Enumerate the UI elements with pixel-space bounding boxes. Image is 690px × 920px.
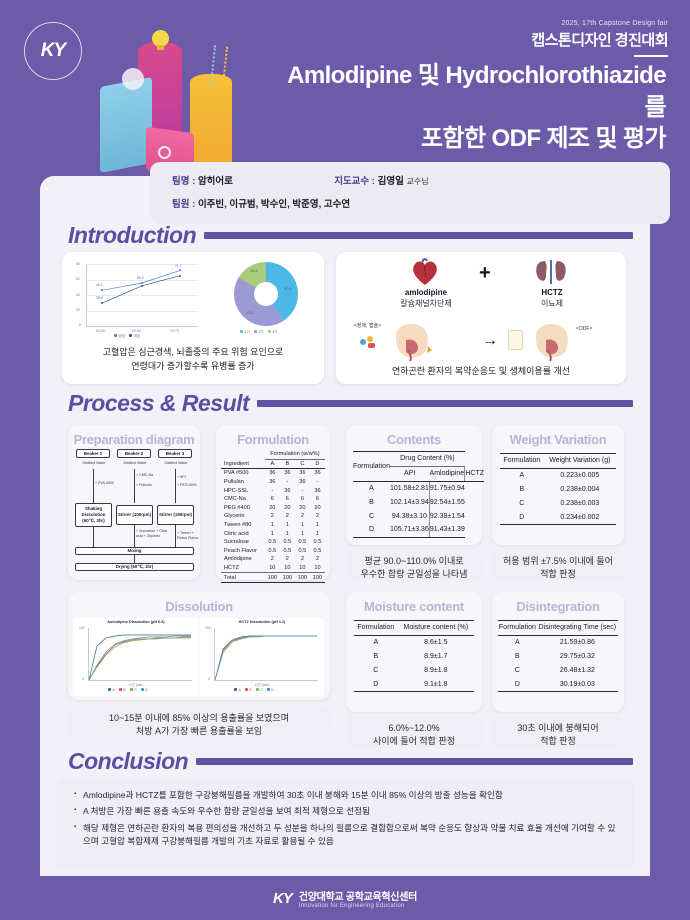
members-label: 팀원 : [172, 199, 195, 210]
advisor-suffix: 교수님 [406, 177, 428, 186]
moisture-formulation: C [354, 663, 398, 677]
poster-footer: KY 건양대학교 공학교육혁신센터 Innovation for Enginee… [0, 876, 690, 920]
weight-value: 0.223±0.005 [544, 468, 616, 482]
table-row: Citric acid1111 [221, 529, 325, 538]
formulation-value-A: 2 [265, 512, 280, 521]
amlo-legend: A B C D [108, 688, 148, 692]
table-row: Glycerin2222 [221, 512, 325, 521]
table-row: HCTZ10101010 [221, 564, 325, 573]
poster-header: KY 2025, 17th Capstone Design fair 캡스톤디자… [0, 0, 690, 160]
amlo-y-min: 0 [82, 677, 84, 681]
disintegration-value: 30.19±0.03 [537, 677, 618, 691]
formulation-ingredient: Pullulan [221, 478, 265, 487]
contents-head-api: API [390, 466, 429, 481]
contents-card: Contents Formulation Drug Content (%) AP… [346, 425, 482, 545]
donut-label-2: 43.1 [246, 310, 254, 315]
team-name-label: 팀명 : [172, 176, 195, 187]
formulation-value-D: 2 [310, 512, 325, 521]
art-magnifier-icon [158, 146, 171, 159]
table-row: PVA #50036363636 [221, 469, 325, 478]
preparation-diagram-title: Preparation diagram [68, 425, 200, 447]
table-row: B29.75±0.32 [498, 650, 618, 664]
moisture-head-formulation: Formulation [354, 621, 398, 636]
table-row: Pullulan36-36- [221, 478, 325, 487]
formulation-value-A: 0.5 [265, 547, 280, 556]
intro-left-caption-line-1: 고혈압은 심근경색, 뇌졸중의 주요 위험 요인으로 [62, 346, 324, 360]
disintegration-value: 29.75±0.32 [537, 650, 618, 664]
heart-icon [410, 258, 440, 286]
prep-step-2: Stirrer (100rpm) [116, 505, 153, 525]
introduction-title: Introduction [68, 222, 196, 249]
formulation-value-D: 36 [310, 469, 325, 478]
formulation-value-D: 20 [310, 504, 325, 513]
contents-amlodipine: 101.58±2.81 [390, 481, 429, 495]
formulation-ingredient: Amlodipine [221, 555, 265, 564]
prep-mixing: Mixing [75, 547, 194, 555]
disintegration-formulation: D [498, 677, 537, 691]
footer-korean: 건양대학교 공학교육혁신센터 [299, 888, 417, 903]
formulation-value-A: 36 [265, 469, 280, 478]
contents-formulation: A [353, 481, 390, 495]
contents-head-c1: Amlodipine [429, 466, 464, 481]
fair-title: 캡스톤디자인 경진대회 [531, 29, 668, 50]
weight-variation-table: Formulation Weight Variation (g) A0.223±… [500, 453, 616, 525]
disintegration-value: 21.59±0.86 [537, 635, 618, 649]
formulation-col-a: A [265, 459, 280, 469]
team-name-value: 암히어로 [198, 176, 233, 187]
table-row: CMC-Na6666 [221, 495, 325, 504]
formulation-ingredient: HCTZ [221, 564, 265, 573]
amlo-y-max: 120 [79, 626, 85, 630]
contents-head-group: Drug Content (%) [390, 452, 465, 467]
prep-add-3a: + API [177, 475, 186, 480]
amlo-legend-d: D [141, 688, 148, 692]
formulation-value-A: 0.5 [265, 538, 280, 547]
contents-caption-line-2: 우수한 함량 균일성을 나타냄 [350, 568, 478, 581]
formulation-head-group: Formulation (w/w%) [265, 450, 325, 459]
formulation-value-D: 100 [310, 573, 325, 583]
seal-text: KY [41, 40, 65, 62]
prep-add-2b: + Pullulan [136, 483, 152, 488]
formulation-col-b: B [280, 459, 295, 469]
formulation-ingredient: Citric acid [221, 529, 265, 538]
disintegration-value: 26.48±1.32 [537, 663, 618, 677]
contents-table: Formulation Drug Content (%) API Amlodip… [353, 451, 484, 538]
footer-logo: KY [273, 890, 292, 907]
moisture-table: Formulation Moisture content (%) A8.6±1.… [354, 620, 474, 692]
dissolution-card: Dissolution Amlodipine Dissolution (pH 6… [68, 592, 330, 700]
prep-side-mid: + Sucralose + Citric acid + Glycerin [136, 529, 170, 539]
table-row: A101.58±2.8191.75±0.94 [353, 481, 484, 495]
section-heading-introduction: Introduction [68, 222, 633, 249]
prep-water-2: Distilled Water [117, 461, 153, 466]
formulation-value-A: 36 [265, 478, 280, 487]
formulation-value-B: 0.5 [280, 538, 295, 547]
donut-label-3: 16.4 [250, 268, 258, 273]
conclusion-rule [196, 758, 633, 765]
formulation-value-D: 0.5 [310, 547, 325, 556]
contents-hctz: 91.75±0.94 [429, 481, 464, 495]
formulation-value-C: - [295, 486, 310, 495]
formulation-value-C: 36 [295, 469, 310, 478]
formulation-card: Formulation Ingredient Formulation (w/w%… [216, 425, 330, 580]
line-chart-legend: 남성 여성 [114, 334, 140, 339]
drug1-label: amlodipine 칼슘채널차단제 [380, 288, 472, 309]
formulation-value-A: 10 [265, 564, 280, 573]
odf-film-icon [508, 330, 523, 350]
donut-legend-3: 3기 [268, 330, 278, 335]
drug2-name-kr: 이뇨제 [506, 298, 598, 309]
weight-formulation: B [500, 483, 544, 497]
kidney-icon [532, 258, 570, 286]
contents-formulation: D [353, 523, 390, 537]
arrow-icon: → [482, 332, 498, 350]
prep-drying: Drying (60℃, 1hr) [75, 563, 194, 571]
conclusion-title: Conclusion [68, 748, 188, 775]
contents-formulation: B [353, 495, 390, 509]
hctz-dissolution-chart: HCTZ Dissolution (pH 1.2) 100 0 시간 (min)… [200, 618, 324, 696]
contents-hctz: 91.43±1.39 [429, 523, 464, 537]
prep-beaker-3: Beaker 3 [158, 449, 192, 458]
formulation-value-C: 36 [295, 478, 310, 487]
moisture-formulation: A [354, 635, 398, 649]
section-heading-process-result: Process & Result [68, 390, 633, 417]
moisture-value: 8.6±1.5 [398, 635, 474, 649]
team-row-names: 팀명 : 암히어로 지도교수 : 김영일 교수님 [172, 173, 670, 187]
fair-subtitle: 2025, 17th Capstone Design fair [531, 20, 668, 27]
table-row: HPC-SSL-36-36 [221, 486, 325, 495]
formulation-value-D: 10 [310, 564, 325, 573]
weight-head-value: Weight Variation (g) [544, 454, 616, 469]
weight-head-formulation: Formulation [500, 454, 544, 469]
donut-hole [254, 282, 278, 306]
amlo-legend-b: B [119, 688, 126, 692]
donut-legend: 1기 2기 3기 [240, 330, 277, 335]
moisture-head-value: Moisture content (%) [398, 621, 474, 636]
moisture-value: 9.1±1.8 [398, 677, 474, 691]
hctz-y-min: 0 [208, 677, 210, 681]
weight-formulation: A [500, 468, 544, 482]
formulation-value-C: 2 [295, 555, 310, 564]
fair-branding: 2025, 17th Capstone Design fair 캡스톤디자인 경… [531, 20, 668, 57]
process-result-title: Process & Result [68, 390, 249, 417]
legend-male: 남성 [114, 334, 125, 339]
formulation-value-A: 1 [265, 529, 280, 538]
poster-root: KY 2025, 17th Capstone Design fair 캡스톤디자… [0, 0, 690, 920]
table-row: Tween #801111 [221, 521, 325, 530]
formulation-value-B: 6 [280, 495, 295, 504]
prep-water-1: Distilled Water [76, 461, 112, 466]
formulation-value-D: - [310, 478, 325, 487]
drug2-label: HCTZ 이뇨제 [506, 288, 598, 309]
art-molecule-icon [122, 68, 144, 90]
conclusion-item: A 처방은 가장 빠른 용출 속도와 우수한 함량 균일성을 보여 최적 제형으… [74, 805, 616, 818]
table-row: Amlodipine2222 [221, 555, 325, 564]
weight-table-body: A0.223±0.005B0.238±0.004C0.238±0.003D0.2… [500, 468, 616, 524]
severity-donut-chart: 40.5 43.1 16.4 1기 2기 3기 [214, 258, 318, 342]
formulation-value-B: 1 [280, 529, 295, 538]
dosage-form-tag-right: <ODF> [576, 326, 592, 332]
contents-head-c2: HCTZ [465, 466, 484, 481]
formulation-value-B: 20 [280, 504, 295, 513]
team-info-bar: 팀명 : 암히어로 지도교수 : 김영일 교수님 팀원 : 이주빈, 이규범, … [150, 162, 670, 224]
contents-caption: 평균 90.0~110.0% 이내로 우수한 함량 균일성을 나타냄 [346, 549, 482, 581]
prep-add-2a: + CMC-Na [136, 473, 153, 478]
formulation-value-A: 1 [265, 521, 280, 530]
disintegration-formulation: C [498, 663, 537, 677]
contents-head-formulation: Formulation [353, 452, 390, 482]
hypertension-prevalence-line-chart: 80 60 40 20 0 50-59 60-69 70-79 46.1 29.… [70, 260, 206, 340]
formulation-value-D: 0.5 [310, 538, 325, 547]
art-cube-blue [100, 77, 152, 173]
formulation-ingredient: HPC-SSL [221, 486, 265, 495]
moisture-content-card: Moisture content Formulation Moisture co… [346, 592, 482, 712]
formulation-title: Formulation [216, 425, 330, 447]
formulation-ingredient: CMC-Na [221, 495, 265, 504]
amlodipine-dissolution-chart: Amlodipine Dissolution (pH 6.8) 120 0 시간… [74, 618, 198, 696]
disintegration-formulation: B [498, 650, 537, 664]
hctz-legend-a: A [234, 688, 241, 692]
formulation-ingredient: Sucralose [221, 538, 265, 547]
prep-add-1: + PVA #500 [95, 481, 114, 486]
moisture-value: 8.9±1.7 [398, 650, 474, 664]
head-swallow-icon-right [528, 320, 574, 362]
formulation-value-B: - [280, 478, 295, 487]
formulation-value-A: 100 [265, 573, 280, 583]
hctz-legend-d: D [267, 688, 274, 692]
donut-legend-1: 1기 [240, 330, 250, 335]
conclusion-item: Amlodipine과 HCTZ를 포함한 구강붕해필름을 개발하여 30초 이… [74, 789, 616, 802]
hctz-x-label: 시간 (min) [200, 682, 324, 687]
pills-icon [360, 336, 384, 350]
formulation-value-B: 0.5 [280, 547, 295, 556]
weight-formulation: D [500, 510, 544, 524]
prep-side-right: + Tween + Peach Flavor [177, 531, 199, 541]
formulation-value-C: 20 [295, 504, 310, 513]
formulation-value-B: 36 [280, 486, 295, 495]
moisture-caption-line-2: 사이에 들어 적합 판정 [350, 735, 478, 748]
weight-variation-caption: 허용 범위 ±7.5% 이내에 들어 적합 판정 [492, 549, 624, 581]
table-row: Peach Flavor0.50.50.50.5 [221, 547, 325, 556]
intro-statistics-card: 80 60 40 20 0 50-59 60-69 70-79 46.1 29.… [62, 252, 324, 384]
formulation-table: Ingredient Formulation (w/w%) A B C D PV… [221, 450, 325, 583]
formulation-value-A: 6 [265, 495, 280, 504]
formulation-value-A: 20 [265, 504, 280, 513]
conclusion-item: 해당 제형은 연하곤란 환자의 복용 편의성을 개선하고 두 성분을 하나의 필… [74, 822, 616, 849]
poster-title: Amlodipine 및 Hydrochlorothiazide를 포함한 OD… [270, 60, 666, 155]
moisture-value: 8.9±1.8 [398, 663, 474, 677]
formulation-value-C: 2 [295, 512, 310, 521]
formulation-table-body: PVA #50036363636Pullulan36-36-HPC-SSL-36… [221, 469, 325, 583]
hctz-y-max: 100 [205, 626, 211, 630]
point-label-male-60s: 55.5 [137, 276, 144, 280]
intro-right-caption: 연하곤란 환자의 복약순응도 및 생체이용률 개선 [336, 364, 626, 377]
disintegration-card: Disintegration Formulation Disintegratin… [492, 592, 624, 712]
formulation-value-C: 0.5 [295, 547, 310, 556]
point-label-female-50s: 29.4 [96, 296, 103, 300]
formulation-value-C: 6 [295, 495, 310, 504]
disint-head-value: Disintegrating Time (sec) [537, 621, 618, 636]
prep-beaker-1: Beaker 1 [76, 449, 110, 458]
prep-water-3: Distilled Water [158, 461, 194, 466]
hctz-legend: A B C D [234, 688, 274, 692]
table-row: D105.71±3.3691.43±1.39 [353, 523, 484, 537]
art-bulb-base [157, 45, 164, 50]
table-row: C26.48±1.32 [498, 663, 618, 677]
formulation-value-C: 1 [295, 529, 310, 538]
dissolution-caption: 10~15분 이내에 85% 이상의 용출률을 보였으며 처방 A가 가장 빠른… [68, 706, 330, 738]
drug1-name-kr: 칼슘채널차단제 [380, 298, 472, 309]
formulation-value-C: 0.5 [295, 538, 310, 547]
hctz-legend-c: C [256, 688, 263, 692]
prep-add-3b: + PEG #400 [177, 483, 197, 488]
formulation-value-B: 100 [280, 573, 295, 583]
dissolution-caption-line-2: 처방 A가 가장 빠른 용출률을 보임 [72, 725, 326, 738]
formulation-value-D: 6 [310, 495, 325, 504]
prep-step-1: Shaking Dissolution (60℃, 3hr) [75, 503, 112, 527]
formulation-value-C: 10 [295, 564, 310, 573]
table-row: Sucralose0.50.50.50.5 [221, 538, 325, 547]
disint-head-formulation: Formulation [498, 621, 537, 636]
formulation-value-D: 36 [310, 486, 325, 495]
formulation-ingredient: Glycerin [221, 512, 265, 521]
amlo-x-label: 시간 (min) [74, 682, 198, 687]
contents-amlodipine: 105.71±3.36 [390, 523, 429, 537]
table-row: D30.19±0.03 [498, 677, 618, 691]
formulation-value-D: 2 [310, 555, 325, 564]
introduction-rule [204, 232, 633, 239]
formulation-ingredient: Total [221, 573, 265, 583]
intro-left-caption: 고혈압은 심근경색, 뇌졸중의 주요 위험 요인으로 연령대가 증가할수록 유병… [62, 346, 324, 373]
weight-variation-card: Weight Variation Formulation Weight Vari… [492, 425, 624, 545]
moisture-title: Moisture content [346, 592, 482, 614]
hctz-legend-b: B [245, 688, 252, 692]
legend-female: 여성 [129, 334, 140, 339]
disintegration-table-body: A21.59±0.86B29.75±0.32C26.48±1.32D30.19±… [498, 635, 618, 691]
members-value: 이주빈, 이규범, 박수인, 박준영, 고수연 [198, 199, 350, 210]
contents-amlodipine: 94.38±3.10 [390, 509, 429, 523]
moisture-formulation: D [354, 677, 398, 691]
weight-value: 0.238±0.003 [544, 496, 616, 510]
table-row: C0.238±0.003 [500, 496, 616, 510]
disintegration-caption: 30초 이내에 붕해되어 적합 판정 [492, 716, 624, 748]
art-cylinder-yellow [190, 74, 232, 174]
dosage-form-tag-left: <정제, 캡슐> [354, 322, 381, 329]
formulation-ingredient: PVA #500 [221, 469, 265, 478]
contents-caption-line-1: 평균 90.0~110.0% 이내로 [350, 555, 478, 568]
table-row: A0.223±0.005 [500, 468, 616, 482]
formulation-col-c: C [295, 459, 310, 469]
contents-table-body: A101.58±2.8191.75±0.94B102.14±3.9492.54±… [353, 481, 484, 537]
contents-formulation: C [353, 509, 390, 523]
plus-icon: + [479, 262, 491, 285]
formulation-value-D: 1 [310, 521, 325, 530]
moisture-formulation: B [354, 650, 398, 664]
weight-formulation: C [500, 496, 544, 510]
table-row: PEG #40020202020 [221, 504, 325, 513]
contents-amlodipine: 102.14±3.94 [390, 495, 429, 509]
formulation-value-D: 1 [310, 529, 325, 538]
table-row: C8.9±1.8 [354, 663, 474, 677]
donut-legend-2: 2기 [254, 330, 264, 335]
poster-title-line-1: Amlodipine 및 Hydrochlorothiazide를 [270, 60, 666, 123]
dissolution-title: Dissolution [68, 592, 330, 614]
section-heading-conclusion: Conclusion [68, 748, 633, 775]
formulation-value-B: 10 [280, 564, 295, 573]
table-row: A21.59±0.86 [498, 635, 618, 649]
advisor-name: 김영일 [378, 176, 404, 187]
weight-variation-title: Weight Variation [492, 425, 624, 447]
point-label-male-50s: 46.1 [96, 283, 103, 287]
table-row: Total100100100100 [221, 573, 325, 583]
table-row: A8.6±1.5 [354, 635, 474, 649]
table-row: C94.38±3.1092.38±1.54 [353, 509, 484, 523]
moisture-caption: 6.0%~12.0% 사이에 들어 적합 판정 [346, 716, 482, 748]
contents-hctz: 92.38±1.54 [429, 509, 464, 523]
conclusion-list: Amlodipine과 HCTZ를 포함한 구강붕해필름을 개발하여 30초 이… [56, 778, 634, 868]
table-row: D9.1±1.8 [354, 677, 474, 691]
team-row-members: 팀원 : 이주빈, 이규범, 박수인, 박준영, 고수연 [172, 196, 670, 210]
weight-caption-line-2: 적합 판정 [496, 568, 620, 581]
moisture-table-body: A8.6±1.5B8.9±1.7C8.9±1.8D9.1±1.8 [354, 635, 474, 691]
amlo-legend-a: A [108, 688, 115, 692]
intro-left-caption-line-2: 연령대가 증가할수록 유병률 증가 [62, 360, 324, 374]
disintegration-title: Disintegration [492, 592, 624, 614]
university-seal-logo: KY [24, 22, 82, 80]
preparation-diagram-card: Preparation diagram Beaker 1 Beaker 2 Be… [68, 425, 200, 580]
weight-value: 0.234±0.002 [544, 510, 616, 524]
formulation-ingredient: PEG #400 [221, 504, 265, 513]
fair-divider [634, 55, 668, 57]
footer-english: Innovation for Engineering Education [299, 903, 417, 909]
contents-hctz: 92.54±1.55 [429, 495, 464, 509]
dissolution-caption-line-1: 10~15분 이내에 85% 이상의 용출률을 보였으며 [72, 712, 326, 725]
disint-caption-line-1: 30초 이내에 붕해되어 [496, 722, 620, 735]
disintegration-table: Formulation Disintegrating Time (sec) A2… [498, 620, 618, 692]
poster-title-line-2: 포함한 ODF 제조 및 평가 [270, 123, 666, 155]
formulation-value-B: 36 [280, 469, 295, 478]
formulation-value-A: 2 [265, 555, 280, 564]
process-result-rule [257, 400, 633, 407]
table-row: B0.238±0.004 [500, 483, 616, 497]
table-row: D0.234±0.002 [500, 510, 616, 524]
prep-step-3: Stirrer (150rpm) [157, 505, 194, 525]
disintegration-formulation: A [498, 635, 537, 649]
formulation-value-C: 100 [295, 573, 310, 583]
formulation-value-B: 2 [280, 555, 295, 564]
weight-caption-line-1: 허용 범위 ±7.5% 이내에 들어 [496, 555, 620, 568]
drug2-name-en: HCTZ [506, 288, 598, 297]
table-row: B102.14±3.9492.54±1.55 [353, 495, 484, 509]
formulation-ingredient: Peach Flavor [221, 547, 265, 556]
head-swallow-icon-left [388, 320, 434, 362]
disint-caption-line-2: 적합 판정 [496, 735, 620, 748]
formulation-value-C: 1 [295, 521, 310, 530]
formulation-value-B: 1 [280, 521, 295, 530]
point-label-male-70s: 71.7 [175, 264, 182, 268]
drug1-name-en: amlodipine [380, 288, 472, 297]
intro-mechanism-card: amlodipine 칼슘채널차단제 + HCTZ 이뇨제 <정제, 캡슐> [336, 252, 626, 384]
advisor-label: 지도교수 : [334, 176, 375, 187]
formulation-col-d: D [310, 459, 325, 469]
weight-value: 0.238±0.004 [544, 483, 616, 497]
line-chart-paths [70, 260, 206, 340]
donut-label-1: 40.5 [284, 286, 292, 291]
amlo-legend-c: C [130, 688, 137, 692]
table-row: B8.9±1.7 [354, 650, 474, 664]
moisture-caption-line-1: 6.0%~12.0% [350, 722, 478, 735]
prep-beaker-2: Beaker 2 [117, 449, 151, 458]
